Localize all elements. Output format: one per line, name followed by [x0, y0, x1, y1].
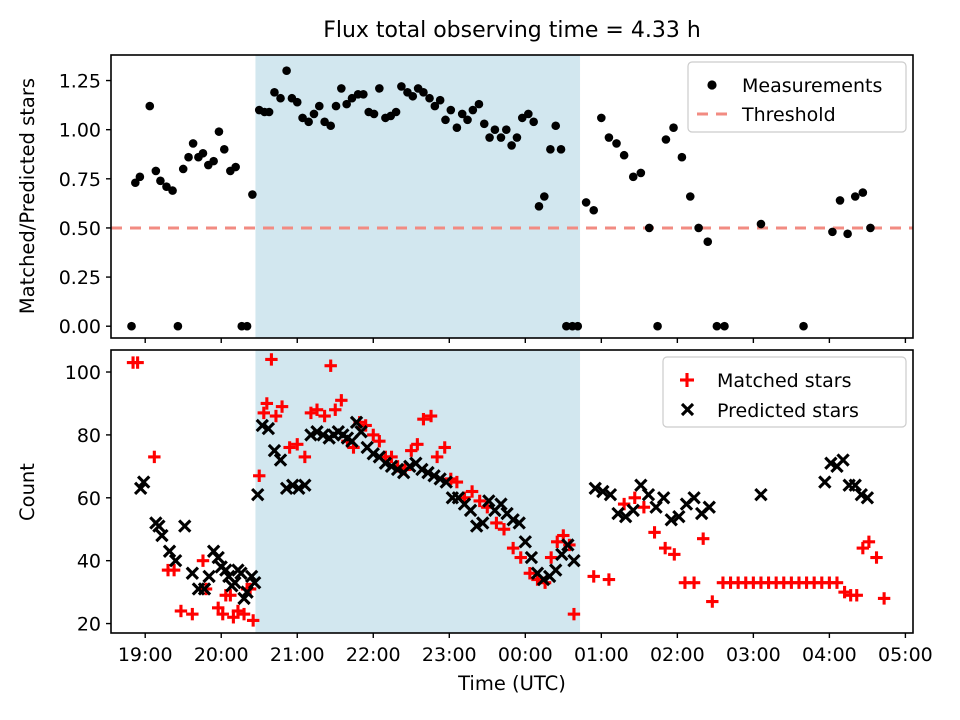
- data-point: [265, 108, 274, 117]
- y-tick-label: 80: [77, 425, 101, 447]
- data-point: [184, 153, 193, 162]
- y-tick-label: 20: [77, 614, 101, 636]
- data-point: [310, 110, 319, 119]
- x-tick-label: 19:00: [118, 644, 173, 666]
- data-point: [392, 108, 401, 117]
- data-point: [612, 139, 621, 148]
- data-point: [589, 206, 598, 215]
- data-point: [168, 186, 177, 195]
- data-point: [573, 322, 582, 331]
- x-tick-label: 04:00: [802, 644, 857, 666]
- shaded-observing-window: [255, 350, 580, 633]
- data-point: [326, 121, 335, 130]
- data-point: [447, 106, 456, 115]
- data-point: [502, 125, 511, 134]
- x-tick-label: 23:00: [422, 644, 477, 666]
- data-point: [529, 118, 538, 127]
- data-point: [629, 173, 638, 182]
- measurements-marker-icon: [707, 80, 716, 89]
- data-point: [199, 149, 208, 158]
- data-point: [605, 133, 614, 142]
- flux-observing-figure: Flux total observing time = 4.33 h 0.000…: [0, 0, 960, 720]
- data-point: [597, 114, 606, 123]
- data-point: [836, 196, 845, 205]
- data-point: [669, 123, 678, 132]
- y-tick-label: 1.25: [59, 71, 101, 93]
- x-axis-label: Time (UTC): [457, 672, 566, 695]
- data-point: [136, 173, 145, 182]
- data-point: [282, 66, 291, 75]
- data-point: [720, 322, 729, 331]
- data-point: [248, 190, 257, 199]
- bottom-y-axis-label: Count: [16, 463, 39, 521]
- data-point: [174, 322, 183, 331]
- data-point: [540, 192, 549, 201]
- data-point: [243, 322, 252, 331]
- data-point: [557, 145, 566, 154]
- data-point: [480, 119, 489, 128]
- data-point: [703, 237, 712, 246]
- x-tick-label: 20:00: [194, 644, 249, 666]
- data-point: [686, 192, 695, 201]
- y-tick-label: 60: [77, 488, 101, 510]
- data-point: [524, 110, 533, 119]
- page-title: Flux total observing time = 4.33 h: [323, 18, 701, 43]
- data-point: [453, 123, 462, 132]
- data-point: [757, 220, 766, 229]
- data-point: [491, 125, 500, 134]
- data-point: [582, 198, 591, 207]
- data-point: [535, 202, 544, 211]
- x-tick-label: 03:00: [726, 644, 781, 666]
- shaded-observing-window-bottom: [255, 350, 580, 633]
- data-point: [127, 322, 136, 331]
- y-tick-label: 0.00: [59, 316, 101, 338]
- data-point: [145, 102, 154, 111]
- data-point: [799, 322, 808, 331]
- y-tick-label: 0.25: [59, 267, 101, 289]
- shaded-observing-window-top: [255, 55, 580, 338]
- data-point: [645, 224, 654, 233]
- data-point: [859, 188, 868, 197]
- data-point: [152, 167, 161, 176]
- data-point: [375, 84, 384, 93]
- x-tick-label: 05:00: [878, 644, 933, 666]
- data-point: [304, 118, 313, 127]
- y-tick-label: 0.50: [59, 218, 101, 240]
- data-point: [425, 94, 434, 103]
- data-point: [463, 116, 472, 125]
- data-point: [507, 141, 516, 150]
- data-point: [551, 121, 560, 130]
- x-tick-label: 21:00: [270, 644, 325, 666]
- data-point: [179, 165, 188, 174]
- data-point: [546, 145, 555, 154]
- x-tick-label: 00:00: [498, 644, 553, 666]
- data-point: [293, 98, 302, 107]
- data-point: [653, 322, 662, 331]
- data-point: [408, 92, 417, 101]
- data-point: [662, 135, 671, 144]
- data-point: [359, 90, 368, 99]
- y-tick-label: 100: [65, 362, 101, 384]
- data-point: [851, 192, 860, 201]
- y-tick-label: 40: [77, 551, 101, 573]
- data-point: [189, 139, 198, 148]
- data-point: [866, 224, 875, 233]
- data-point: [231, 163, 240, 172]
- top-y-axis-label: Matched/Predicted stars: [16, 78, 39, 314]
- data-point: [485, 133, 494, 142]
- data-point: [436, 96, 445, 105]
- data-point: [497, 133, 506, 142]
- data-point: [315, 102, 324, 111]
- data-point: [637, 169, 646, 178]
- data-point: [828, 228, 837, 237]
- x-tick-label: 01:00: [574, 644, 629, 666]
- data-point: [441, 116, 450, 125]
- legend-label-threshold: Threshold: [741, 104, 836, 126]
- data-point: [215, 127, 224, 136]
- data-point: [513, 133, 522, 142]
- data-point: [337, 84, 346, 93]
- data-point: [694, 224, 703, 233]
- bottom-legend[interactable]: Matched stars Predicted stars: [663, 357, 906, 427]
- data-point: [620, 151, 629, 160]
- data-point: [220, 145, 229, 154]
- data-point: [276, 94, 285, 103]
- x-tick-label: 22:00: [346, 644, 401, 666]
- legend-label-predicted-stars: Predicted stars: [717, 400, 859, 422]
- data-point: [332, 102, 341, 111]
- data-point: [370, 110, 379, 119]
- shaded-observing-window: [255, 55, 580, 338]
- legend-label-matched-stars: Matched stars: [717, 370, 851, 392]
- x-tick-label: 02:00: [650, 644, 705, 666]
- y-tick-label: 1.00: [59, 120, 101, 142]
- data-point: [209, 157, 218, 166]
- legend-label-measurements: Measurements: [742, 75, 882, 97]
- data-point: [843, 230, 852, 239]
- data-point: [713, 322, 722, 331]
- y-tick-label: 0.75: [59, 169, 101, 191]
- top-legend[interactable]: Measurements Threshold: [688, 62, 906, 132]
- data-point: [678, 153, 687, 162]
- plot-canvas: Flux total observing time = 4.33 h 0.000…: [0, 0, 960, 720]
- data-point: [475, 100, 484, 109]
